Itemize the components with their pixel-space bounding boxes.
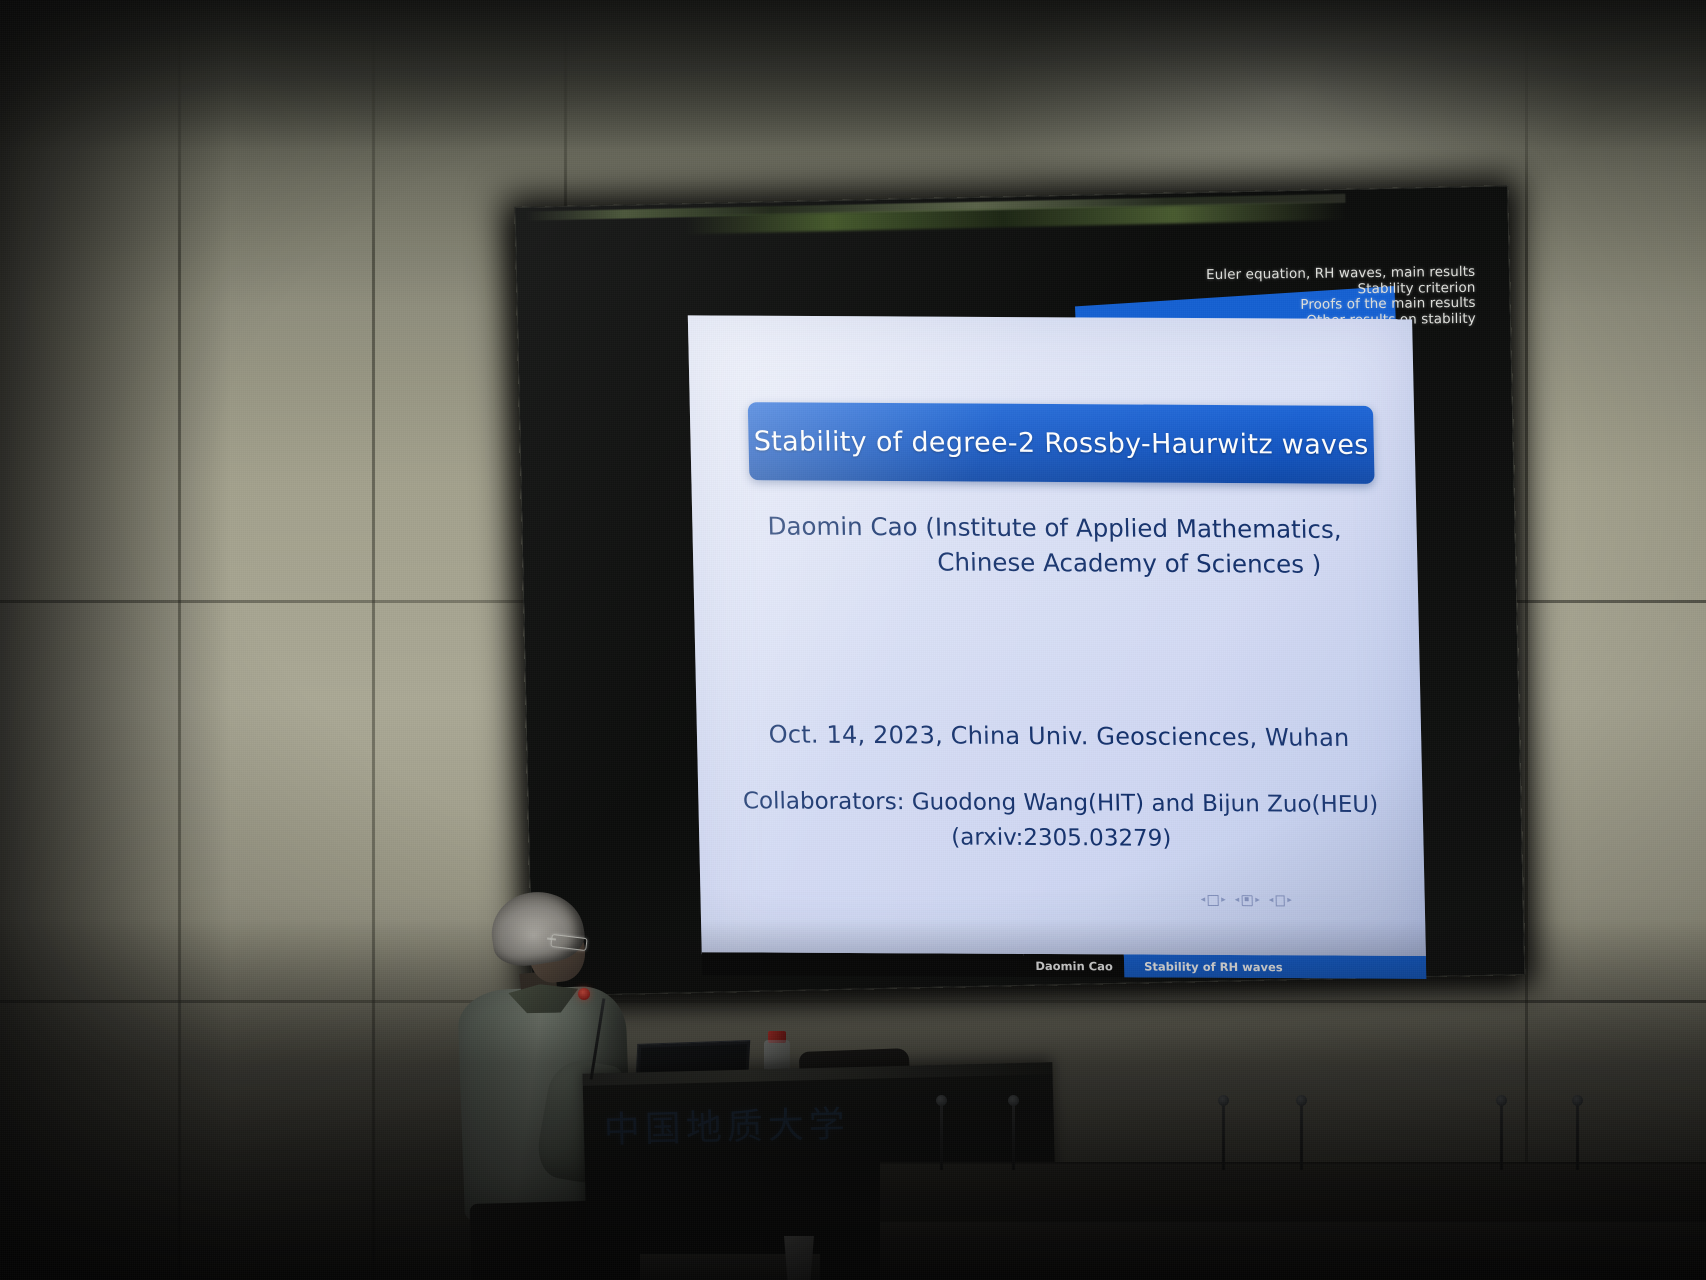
photo-vignette	[0, 0, 1706, 1280]
lecture-hall-photo: Euler equation, RH waves, main results S…	[0, 0, 1706, 1280]
